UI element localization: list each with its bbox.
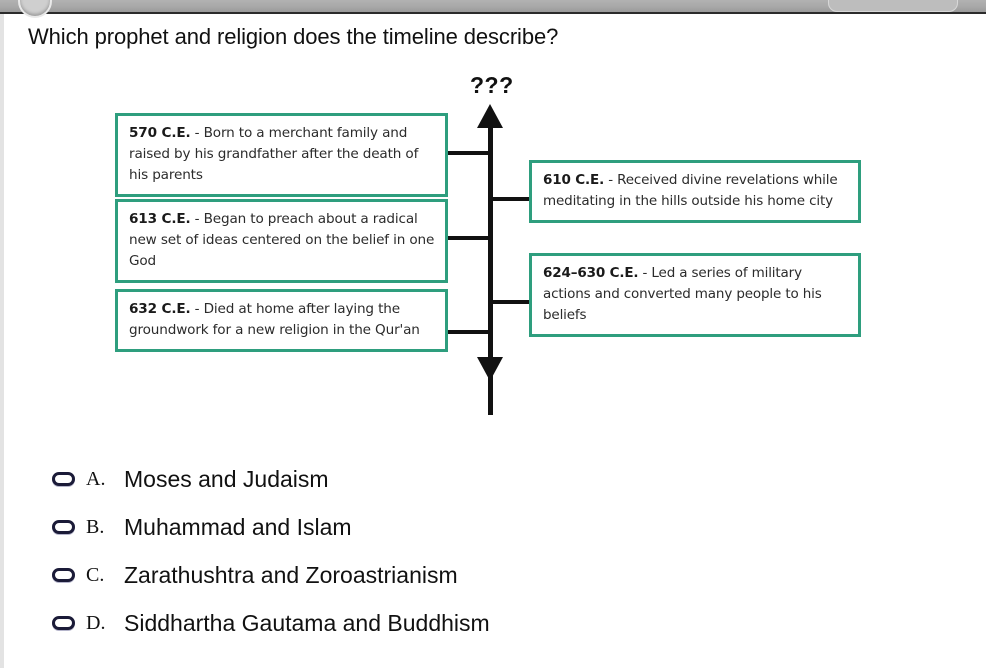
- radio-button-a-icon[interactable]: [52, 472, 75, 486]
- connector-line-570: [448, 151, 492, 155]
- chrome-circle-button[interactable]: [18, 0, 52, 18]
- timeline-event-separator-610: -: [604, 172, 617, 188]
- answer-options-list: A. Moses and Judaism B. Muhammad and Isl…: [0, 455, 986, 647]
- timeline-event-text-632: 632 C.E. - Died at home after laying the…: [129, 299, 435, 341]
- connector-line-610: [489, 197, 531, 201]
- question-text: Which prophet and religion does the time…: [28, 24, 558, 50]
- radio-button-b-icon[interactable]: [52, 520, 75, 534]
- radio-button-d-icon[interactable]: [52, 616, 75, 630]
- timeline-event-year-613: 613 C.E.: [129, 211, 191, 227]
- answer-text-b[interactable]: Muhammad and Islam: [124, 514, 352, 541]
- answer-option-c[interactable]: C. Zarathushtra and Zoroastrianism: [0, 551, 986, 599]
- radio-button-c-icon[interactable]: [52, 568, 75, 582]
- timeline-event-box-624-630: 624–630 C.E. - Led a series of military …: [529, 253, 861, 337]
- timeline-event-separator-570: -: [191, 125, 204, 141]
- timeline-event-text-613: 613 C.E. - Began to preach about a radic…: [129, 209, 435, 272]
- connector-line-613: [448, 236, 492, 240]
- timeline-diagram: ??? 570 C.E. - Born to a merchant family…: [0, 60, 986, 405]
- timeline-event-box-632: 632 C.E. - Died at home after laying the…: [115, 289, 448, 352]
- answer-letter-b: B.: [86, 516, 104, 539]
- answer-option-d[interactable]: D. Siddhartha Gautama and Buddhism: [0, 599, 986, 647]
- answer-letter-d: D.: [86, 612, 105, 635]
- top-chrome-bar: [0, 0, 986, 14]
- arrow-down-icon: [477, 357, 503, 381]
- timeline-event-year-632: 632 C.E.: [129, 301, 191, 317]
- answer-text-c[interactable]: Zarathushtra and Zoroastrianism: [124, 562, 458, 589]
- answer-text-a[interactable]: Moses and Judaism: [124, 466, 329, 493]
- connector-line-624-630: [489, 300, 531, 304]
- timeline-event-year-570: 570 C.E.: [129, 125, 191, 141]
- timeline-event-box-570: 570 C.E. - Born to a merchant family and…: [115, 113, 448, 197]
- timeline-event-separator-624-630: -: [638, 265, 651, 281]
- answer-letter-c: C.: [86, 564, 104, 587]
- timeline-event-year-624-630: 624–630 C.E.: [543, 265, 638, 281]
- chrome-pill-button[interactable]: [828, 0, 958, 12]
- timeline-event-separator-632: -: [191, 301, 204, 317]
- answer-text-d[interactable]: Siddhartha Gautama and Buddhism: [124, 610, 490, 637]
- timeline-event-text-624-630: 624–630 C.E. - Led a series of military …: [543, 263, 848, 326]
- answer-option-a[interactable]: A. Moses and Judaism: [0, 455, 986, 503]
- timeline-unknown-label: ???: [470, 72, 514, 99]
- timeline-event-separator-613: -: [191, 211, 204, 227]
- answer-option-b[interactable]: B. Muhammad and Islam: [0, 503, 986, 551]
- timeline-event-box-610: 610 C.E. - Received divine revelations w…: [529, 160, 861, 223]
- answer-letter-a: A.: [86, 468, 105, 491]
- connector-line-632: [448, 330, 492, 334]
- timeline-event-text-570: 570 C.E. - Born to a merchant family and…: [129, 123, 435, 186]
- timeline-event-text-610: 610 C.E. - Received divine revelations w…: [543, 170, 848, 212]
- timeline-event-box-613: 613 C.E. - Began to preach about a radic…: [115, 199, 448, 283]
- timeline-event-year-610: 610 C.E.: [543, 172, 604, 188]
